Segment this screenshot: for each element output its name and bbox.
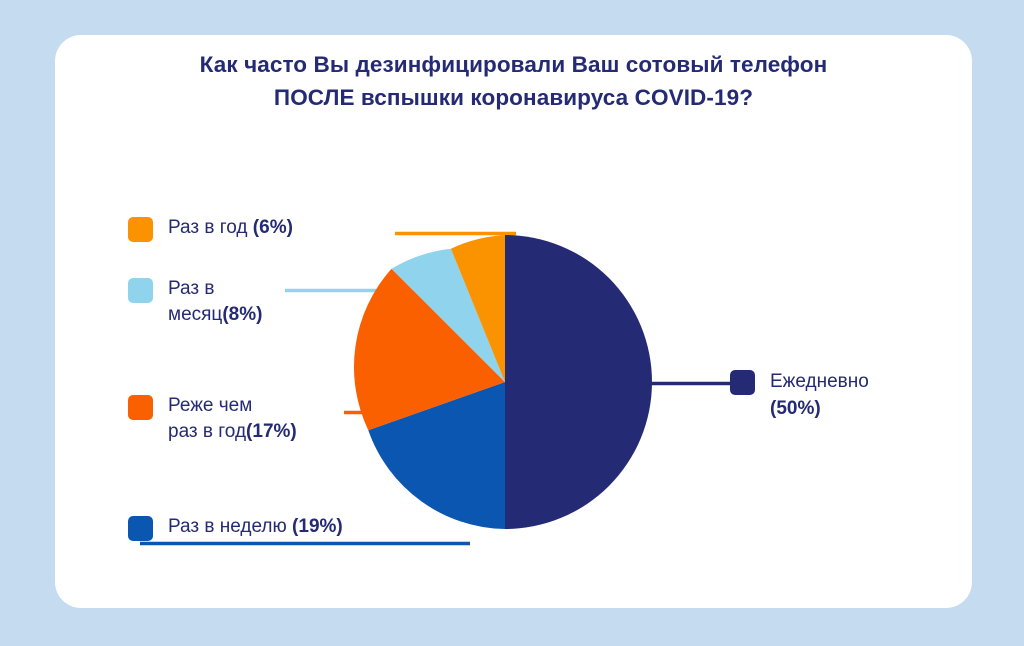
slide-canvas: Как часто Вы дезинфицировали Ваш сотовый… xyxy=(0,0,1024,646)
legend-label-rare: Реже чемраз в год(17%) xyxy=(168,393,297,445)
legend-label-daily: Ежедневно(50%) xyxy=(770,368,869,422)
legend-name-month-line2: месяц xyxy=(168,304,222,325)
legend-name-year: Раз в год xyxy=(168,217,253,238)
legend-swatch-month xyxy=(128,278,153,303)
legend-swatch-week xyxy=(128,516,153,541)
legend-item-year[interactable]: Раз в год (6%) xyxy=(128,215,293,242)
legend-swatch-rare xyxy=(128,395,153,420)
legend-label-year: Раз в год (6%) xyxy=(168,215,293,241)
legend-name-rare-line1: Реже чем xyxy=(168,395,252,416)
legend-name-daily: Ежедневно xyxy=(770,368,869,395)
legend-swatch-daily xyxy=(730,370,755,395)
pie-slice-daily[interactable] xyxy=(505,235,652,529)
legend-pct-month: (8%) xyxy=(222,304,262,325)
legend-pct-week: (19%) xyxy=(292,516,343,537)
legend-label-month: Раз вмесяц(8%) xyxy=(168,276,262,328)
legend-swatch-year xyxy=(128,217,153,242)
legend-item-month[interactable]: Раз вмесяц(8%) xyxy=(128,276,262,328)
legend-pct-rare: (17%) xyxy=(246,421,297,442)
legend-label-week: Раз в неделю (19%) xyxy=(168,514,343,540)
legend-item-week[interactable]: Раз в неделю (19%) xyxy=(128,514,343,541)
legend-pct-daily: (50%) xyxy=(770,395,869,422)
legend-item-daily[interactable]: Ежедневно(50%) xyxy=(730,368,869,422)
legend-name-week: Раз в неделю xyxy=(168,516,292,537)
legend-pct-year: (6%) xyxy=(253,217,293,238)
legend-name-month-line1: Раз в xyxy=(168,278,214,299)
legend-name-rare-line2: раз в год xyxy=(168,421,246,442)
legend-item-rare[interactable]: Реже чемраз в год(17%) xyxy=(128,393,297,445)
